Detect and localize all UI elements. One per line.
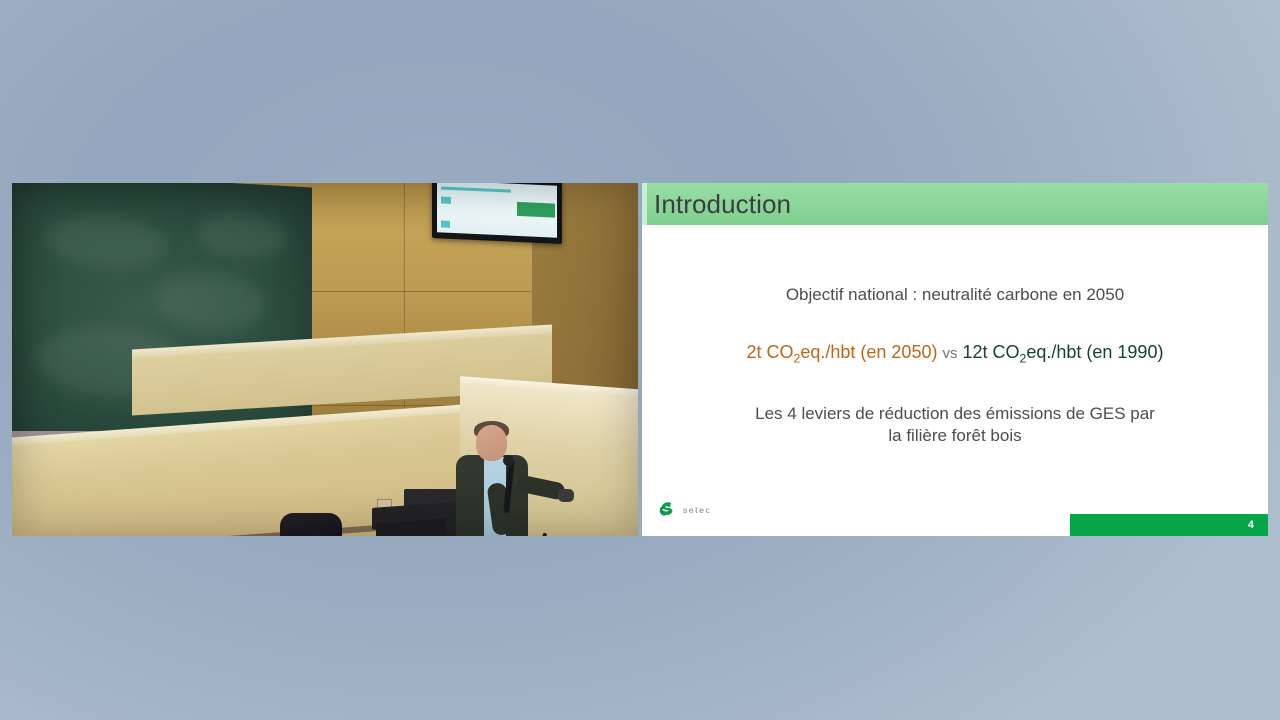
slide-footer: setec 4 bbox=[642, 493, 1268, 536]
setec-logo-icon bbox=[655, 499, 677, 521]
wall-monitor bbox=[432, 183, 562, 244]
monitor-slide-line bbox=[441, 186, 511, 192]
slide-title-accent bbox=[642, 183, 647, 225]
speaker-right-hand bbox=[558, 489, 574, 502]
speaker-head bbox=[476, 425, 507, 461]
chalk-smudge bbox=[46, 213, 166, 272]
lecture-video-panel[interactable] bbox=[12, 183, 638, 536]
slide-body: Objectif national : neutralité carbone e… bbox=[642, 225, 1268, 493]
page-number-badge: 4 bbox=[1070, 514, 1268, 536]
slide-title: Introduction bbox=[654, 189, 791, 220]
screen-root: Introduction Objectif national : neutral… bbox=[0, 0, 1280, 720]
comparison-right: 12t CO2eq./hbt (en 1990) bbox=[963, 342, 1164, 362]
page-number: 4 bbox=[1248, 519, 1254, 531]
objective-line: Objectif national : neutralité carbone e… bbox=[642, 285, 1268, 305]
slide-title-bar: Introduction bbox=[642, 183, 1268, 225]
backpack bbox=[280, 513, 342, 536]
monitor-slide-line bbox=[441, 196, 451, 203]
chalk-smudge bbox=[196, 211, 286, 261]
microphone-head bbox=[503, 455, 514, 466]
monitor-screen bbox=[437, 183, 557, 238]
setec-logo-word: setec bbox=[683, 505, 711, 515]
comparison-right-value: 12t CO bbox=[963, 342, 1020, 362]
comparison-line: 2t CO2eq./hbt (en 2050) vs 12t CO2eq./hb… bbox=[642, 342, 1268, 366]
levers-line: Les 4 leviers de réduction des émissions… bbox=[755, 403, 1155, 447]
monitor-slide-line bbox=[441, 220, 450, 227]
comparison-left-value: 2t CO bbox=[747, 342, 794, 362]
chalk-smudge bbox=[156, 269, 266, 335]
comparison-right-rest: eq./hbt (en 1990) bbox=[1026, 342, 1163, 362]
comparison-separator: vs bbox=[942, 345, 957, 362]
monitor-slide-accent bbox=[517, 202, 555, 218]
setec-logo-group: setec bbox=[655, 499, 711, 521]
comparison-left: 2t CO2eq./hbt (en 2050) bbox=[747, 342, 938, 362]
comparison-left-rest: eq./hbt (en 2050) bbox=[800, 342, 937, 362]
presentation-slide-panel[interactable]: Introduction Objectif national : neutral… bbox=[642, 183, 1268, 536]
